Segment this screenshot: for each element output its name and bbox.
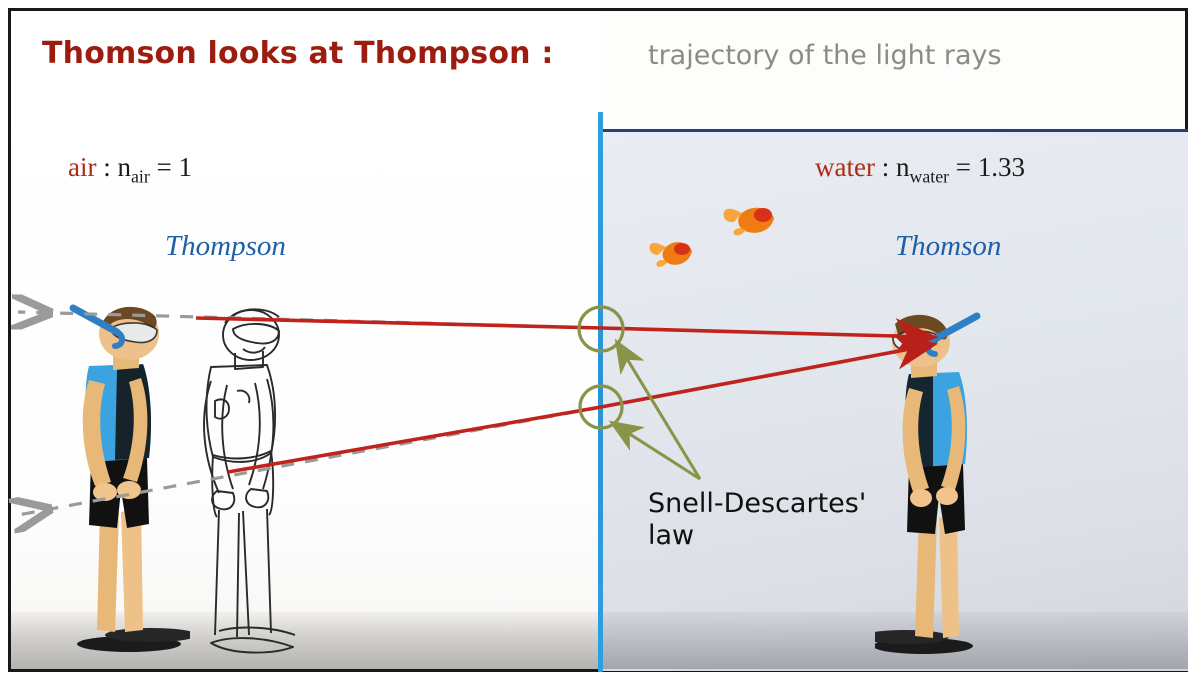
water-index-label: water : nwater = 1.33 [815, 152, 1025, 187]
snell-line-1: Snell-Descartes' [648, 488, 918, 520]
water-symbol: n [896, 152, 910, 182]
snell-callout-arrow-upper [618, 344, 700, 479]
snell-callout-arrow-lower [614, 424, 700, 479]
air-subscript: air [131, 166, 150, 186]
page-subtitle: trajectory of the light rays [648, 40, 1002, 71]
ray-overlay [0, 0, 1200, 685]
label-thomson: Thomson [895, 230, 1001, 263]
air-index-label: air : nair = 1 [68, 152, 192, 187]
air-medium-name: air [68, 152, 96, 182]
water-subscript: water [909, 166, 949, 186]
air-separator: : [96, 152, 117, 182]
water-index-value: 1.33 [978, 152, 1025, 182]
snell-descartes-law-label: Snell-Descartes' law [648, 488, 918, 552]
air-index-value: 1 [179, 152, 193, 182]
water-equals: = [949, 152, 978, 182]
water-medium-name: water [815, 152, 875, 182]
snell-line-2: law [648, 520, 918, 552]
refraction-diagram: Thomson looks at Thompson : trajectory o… [0, 0, 1200, 685]
light-ray-upper [196, 318, 931, 337]
air-equals: = [150, 152, 179, 182]
water-separator: : [875, 152, 896, 182]
label-thompson: Thompson [165, 230, 286, 263]
page-title: Thomson looks at Thompson : [42, 36, 554, 71]
air-symbol: n [118, 152, 132, 182]
